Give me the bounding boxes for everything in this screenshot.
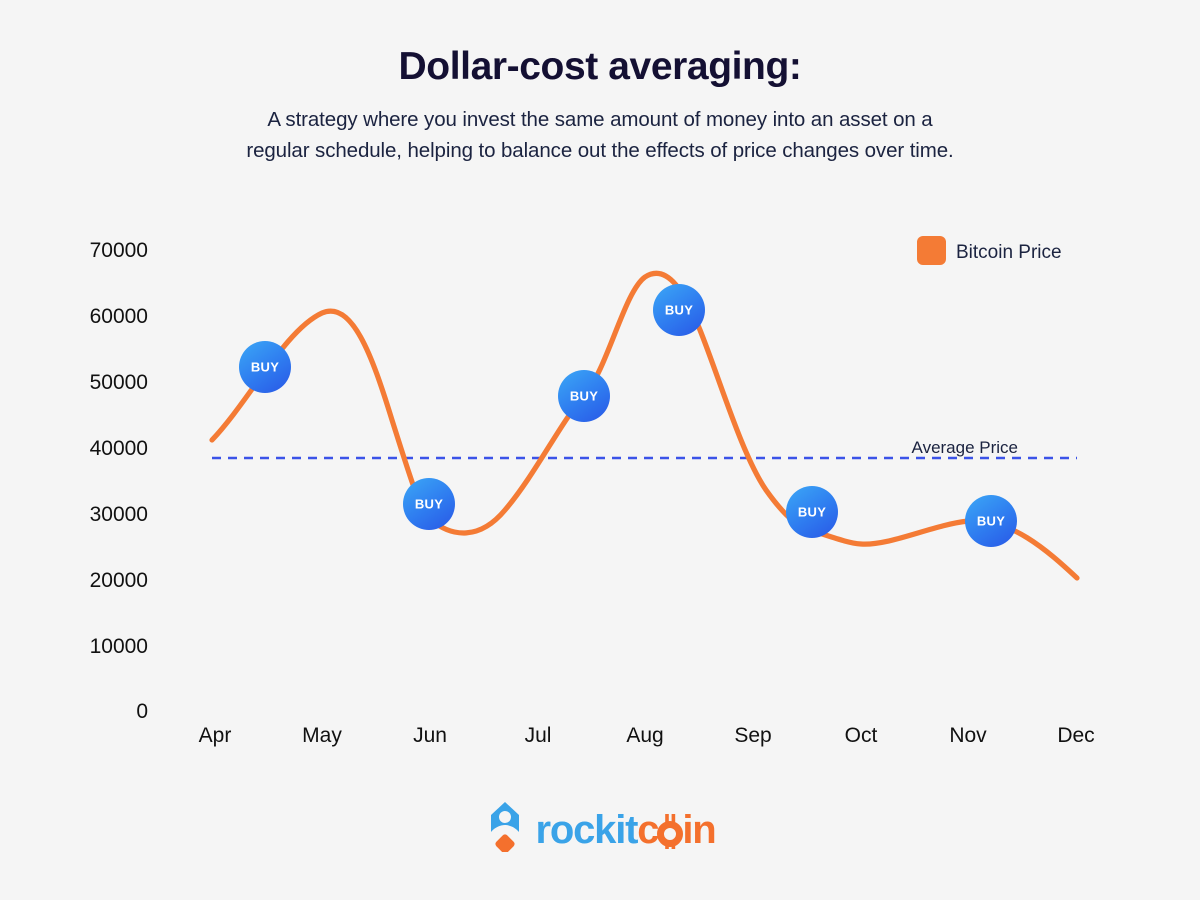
- buy-marker-label: BUY: [665, 303, 693, 318]
- buy-marker[interactable]: BUY: [239, 341, 291, 393]
- x-tick-label: Apr: [199, 724, 232, 747]
- rocket-icon: [485, 800, 525, 852]
- y-tick-label: 60000: [90, 305, 148, 328]
- logo-wordmark: rockit c in: [536, 803, 716, 850]
- x-tick-label: Dec: [1057, 724, 1094, 747]
- price-chart: 70000 60000 50000 40000 30000 20000 1000…: [0, 0, 1200, 790]
- chart-legend: Bitcoin Price: [917, 236, 1062, 265]
- y-axis-ticks: 70000 60000 50000 40000 30000 20000 1000…: [90, 239, 148, 723]
- logo-coin-text: c in: [637, 803, 715, 850]
- average-price-label: Average Price: [912, 438, 1018, 457]
- y-tick-label: 70000: [90, 239, 148, 262]
- bitcoin-o-icon: [657, 809, 683, 849]
- infographic-page: Dollar-cost averaging: A strategy where …: [0, 0, 1200, 900]
- x-tick-label: Oct: [845, 724, 878, 747]
- buy-marker-label: BUY: [977, 514, 1005, 529]
- y-tick-label: 50000: [90, 371, 148, 394]
- x-axis-ticks: Apr May Jun Jul Aug Sep Oct Nov Dec: [199, 724, 1095, 747]
- logo-coin-c: c: [637, 810, 658, 850]
- x-tick-label: Aug: [626, 724, 663, 747]
- logo-coin-in: in: [682, 810, 715, 850]
- buy-marker-label: BUY: [798, 505, 826, 520]
- y-tick-label: 10000: [90, 635, 148, 658]
- chart-container: 70000 60000 50000 40000 30000 20000 1000…: [0, 0, 1200, 790]
- x-tick-label: Sep: [734, 724, 771, 747]
- logo-rockit-text: rockit: [536, 810, 638, 850]
- legend-label-bitcoin-price: Bitcoin Price: [956, 242, 1062, 263]
- legend-swatch-bitcoin-price: [917, 236, 946, 265]
- buy-marker[interactable]: BUY: [965, 495, 1017, 547]
- buy-marker[interactable]: BUY: [786, 486, 838, 538]
- x-tick-label: Jul: [525, 724, 552, 747]
- y-tick-label: 30000: [90, 503, 148, 526]
- x-tick-label: Nov: [949, 724, 987, 747]
- brand-logo[interactable]: rockit c in: [0, 800, 1200, 852]
- y-tick-label: 0: [136, 700, 148, 723]
- buy-marker[interactable]: BUY: [653, 284, 705, 336]
- buy-marker-label: BUY: [415, 497, 443, 512]
- buy-marker-label: BUY: [570, 389, 598, 404]
- x-tick-label: May: [302, 724, 342, 747]
- y-tick-label: 40000: [90, 437, 148, 460]
- x-tick-label: Jun: [413, 724, 447, 747]
- buy-marker-label: BUY: [251, 360, 279, 375]
- bitcoin-price-line: [212, 273, 1077, 578]
- y-tick-label: 20000: [90, 569, 148, 592]
- buy-marker[interactable]: BUY: [558, 370, 610, 422]
- buy-marker[interactable]: BUY: [403, 478, 455, 530]
